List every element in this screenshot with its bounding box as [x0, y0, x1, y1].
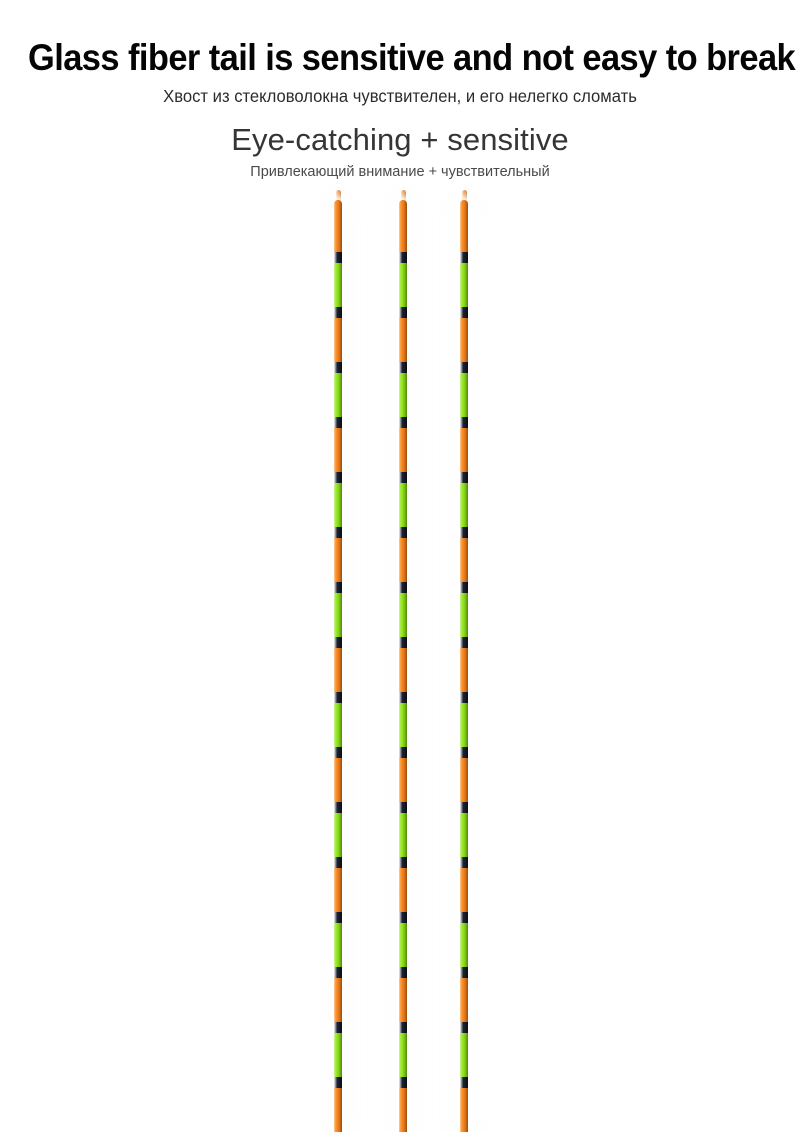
rod-segment-orange: [460, 538, 468, 582]
rod-segment-band: [334, 527, 342, 538]
rod-segment-band: [399, 912, 407, 923]
rod-segment-orange: [460, 648, 468, 692]
rod-segment-green: [460, 263, 468, 307]
rod-segment-band: [460, 912, 468, 923]
rod-segment-orange: [399, 1088, 407, 1132]
rod-segment-band: [334, 747, 342, 758]
rod-segment-band: [460, 582, 468, 593]
rod-segment-green: [399, 813, 407, 857]
rod-segment-band: [460, 692, 468, 703]
rod-segment-orange: [399, 538, 407, 582]
rod-segment-band: [399, 582, 407, 593]
rod-segment-band: [334, 967, 342, 978]
rod-segment-green: [460, 1033, 468, 1077]
rod-segment-band: [460, 967, 468, 978]
rod-2: [399, 200, 407, 1132]
rod-segment-band: [460, 252, 468, 263]
rod-segment-green: [334, 1033, 342, 1077]
rod-segment-band: [460, 747, 468, 758]
product-image-float-tails: [0, 0, 800, 800]
rod-3: [460, 200, 468, 1132]
rod-segment-green: [334, 593, 342, 637]
rod-segment-band: [460, 1022, 468, 1033]
rod-segment-band: [460, 637, 468, 648]
rod-segment-orange: [460, 978, 468, 1022]
rod-segment-band: [334, 802, 342, 813]
rod-segment-green: [399, 593, 407, 637]
rod-segment-green: [399, 703, 407, 747]
rod-segment-band: [460, 362, 468, 373]
rod-segment-band: [460, 417, 468, 428]
rod-segment-orange: [334, 978, 342, 1022]
rod-segment-orange: [460, 1088, 468, 1132]
rod-segment-band: [399, 747, 407, 758]
rod-segment-green: [460, 703, 468, 747]
rod-segment-band: [460, 472, 468, 483]
rod-segment-band: [334, 1077, 342, 1088]
rod-segment-green: [460, 483, 468, 527]
rod-segment-band: [399, 472, 407, 483]
rod-segment-band: [334, 692, 342, 703]
rod-segment-band: [399, 857, 407, 868]
rod-segment-orange: [399, 318, 407, 362]
rod-segment-band: [399, 1022, 407, 1033]
rod-segment-orange: [399, 648, 407, 692]
rod-segment-band: [334, 1022, 342, 1033]
rod-segment-orange: [460, 428, 468, 472]
rod-segment-green: [334, 483, 342, 527]
rod-segment-band: [399, 802, 407, 813]
rod-segment-orange: [334, 868, 342, 912]
rod-segment-green: [399, 1033, 407, 1077]
rod-segment-band: [334, 472, 342, 483]
rod-segment-green: [334, 373, 342, 417]
rod-segment-orange: [334, 200, 342, 252]
rod-segment-orange: [460, 200, 468, 252]
rod-segment-band: [399, 692, 407, 703]
rod-segment-orange: [334, 758, 342, 802]
rod-segment-orange: [334, 1088, 342, 1132]
rod-segment-green: [460, 813, 468, 857]
rod-segment-orange: [399, 200, 407, 252]
rod-segment-orange: [334, 428, 342, 472]
rod-segment-orange: [334, 318, 342, 362]
rod-segment-green: [334, 813, 342, 857]
rod-segment-green: [460, 593, 468, 637]
rod-segment-green: [399, 263, 407, 307]
rod-segment-band: [399, 362, 407, 373]
rod-segment-orange: [399, 428, 407, 472]
rod-segment-band: [334, 252, 342, 263]
rod-segment-band: [460, 307, 468, 318]
rod-segment-band: [334, 857, 342, 868]
rod-segment-band: [399, 252, 407, 263]
rod-segment-orange: [460, 868, 468, 912]
rod-segment-green: [399, 483, 407, 527]
rod-segment-band: [399, 417, 407, 428]
rod-segment-orange: [334, 648, 342, 692]
rod-segment-orange: [399, 758, 407, 802]
rod-segment-band: [399, 967, 407, 978]
rod-segment-band: [460, 1077, 468, 1088]
rod-segment-band: [460, 527, 468, 538]
rod-1: [334, 200, 342, 1132]
rod-segment-orange: [460, 318, 468, 362]
rod-segment-band: [334, 417, 342, 428]
rod-segment-green: [460, 373, 468, 417]
rod-segment-band: [460, 857, 468, 868]
rod-segment-band: [399, 637, 407, 648]
rod-segment-band: [334, 912, 342, 923]
rod-segment-band: [334, 582, 342, 593]
rod-segment-orange: [399, 868, 407, 912]
rod-segment-band: [460, 802, 468, 813]
rod-segment-green: [460, 923, 468, 967]
rod-segment-band: [334, 307, 342, 318]
rod-segment-band: [399, 527, 407, 538]
rod-segment-green: [399, 373, 407, 417]
rod-segment-band: [399, 1077, 407, 1088]
rod-segment-green: [334, 923, 342, 967]
rod-segment-band: [334, 637, 342, 648]
rod-segment-green: [334, 703, 342, 747]
rod-segment-band: [399, 307, 407, 318]
rod-segment-band: [334, 362, 342, 373]
rod-segment-orange: [460, 758, 468, 802]
rod-segment-green: [399, 923, 407, 967]
rod-segment-orange: [334, 538, 342, 582]
rod-segment-orange: [399, 978, 407, 1022]
rod-segment-green: [334, 263, 342, 307]
